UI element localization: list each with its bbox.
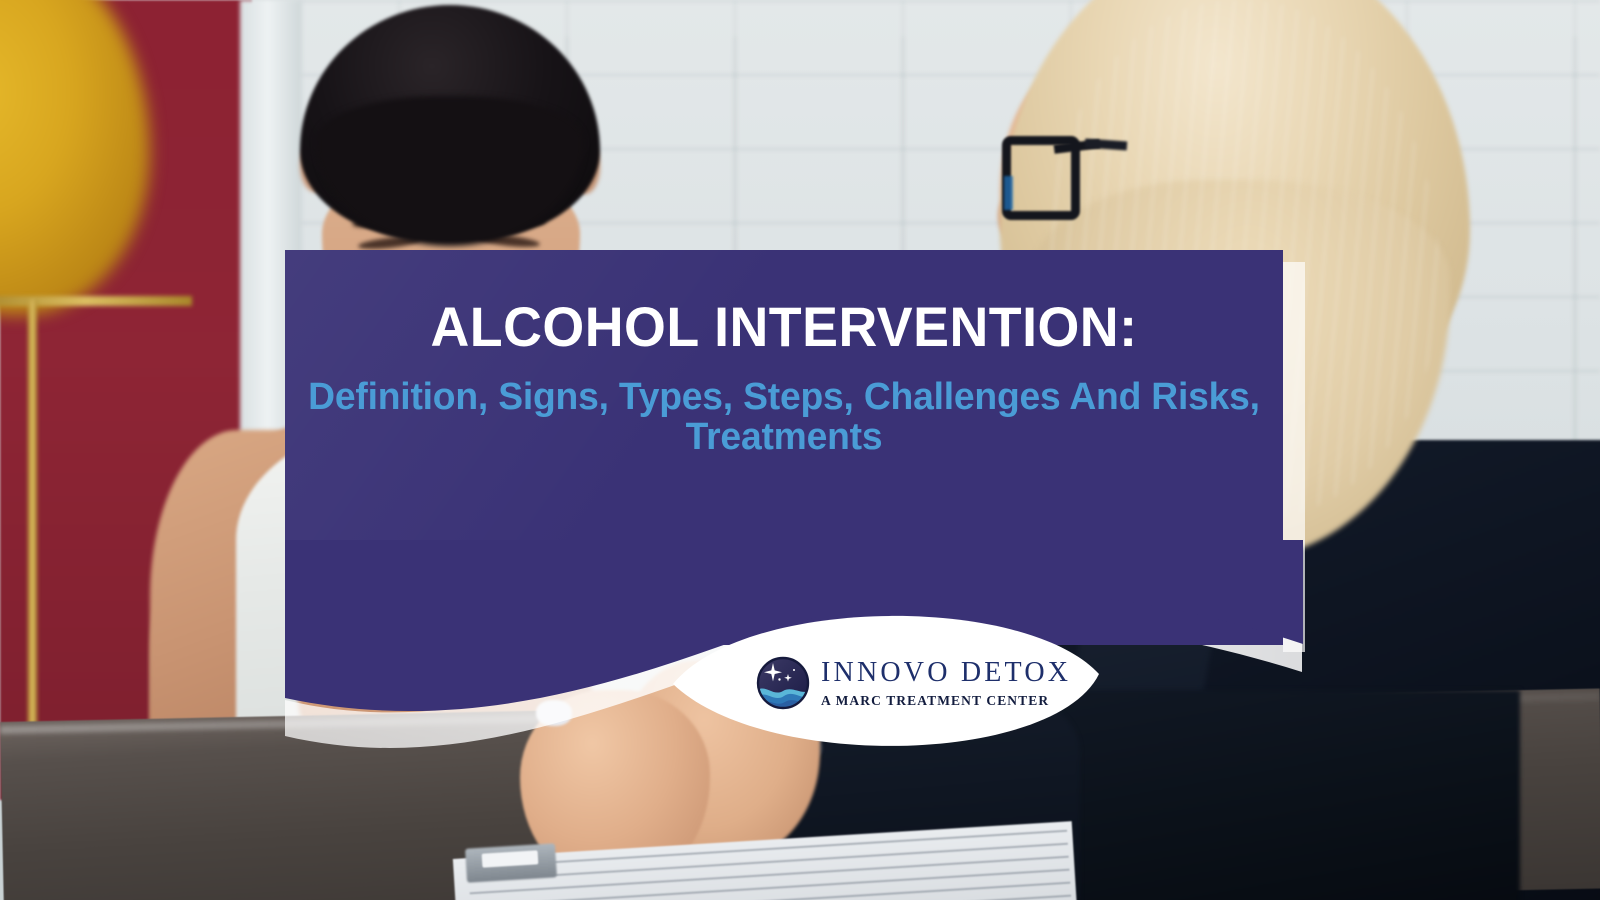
logo-tagline: A MARC TREATMENT CENTER bbox=[821, 694, 1071, 708]
banner-graphic: ALCOHOL INTERVENTION: Definition, Signs,… bbox=[0, 0, 1600, 900]
logo-name: INNOVO DETOX bbox=[821, 659, 1071, 687]
logo[interactable]: INNOVO DETOX A MARC TREATMENT CENTER bbox=[755, 638, 1045, 728]
logo-badge[interactable]: INNOVO DETOX A MARC TREATMENT CENTER bbox=[655, 588, 1115, 778]
eyeglasses-blue-highlight bbox=[1004, 176, 1013, 210]
night-sky-water-circle-icon bbox=[755, 655, 811, 711]
logo-text: INNOVO DETOX A MARC TREATMENT CENTER bbox=[821, 659, 1071, 708]
card-text-block: ALCOHOL INTERVENTION: Definition, Signs,… bbox=[285, 250, 1283, 458]
page-title: ALCOHOL INTERVENTION: bbox=[305, 298, 1263, 355]
page-subtitle: Definition, Signs, Types, Steps, Challen… bbox=[295, 377, 1273, 458]
lamp-stem bbox=[28, 300, 37, 730]
